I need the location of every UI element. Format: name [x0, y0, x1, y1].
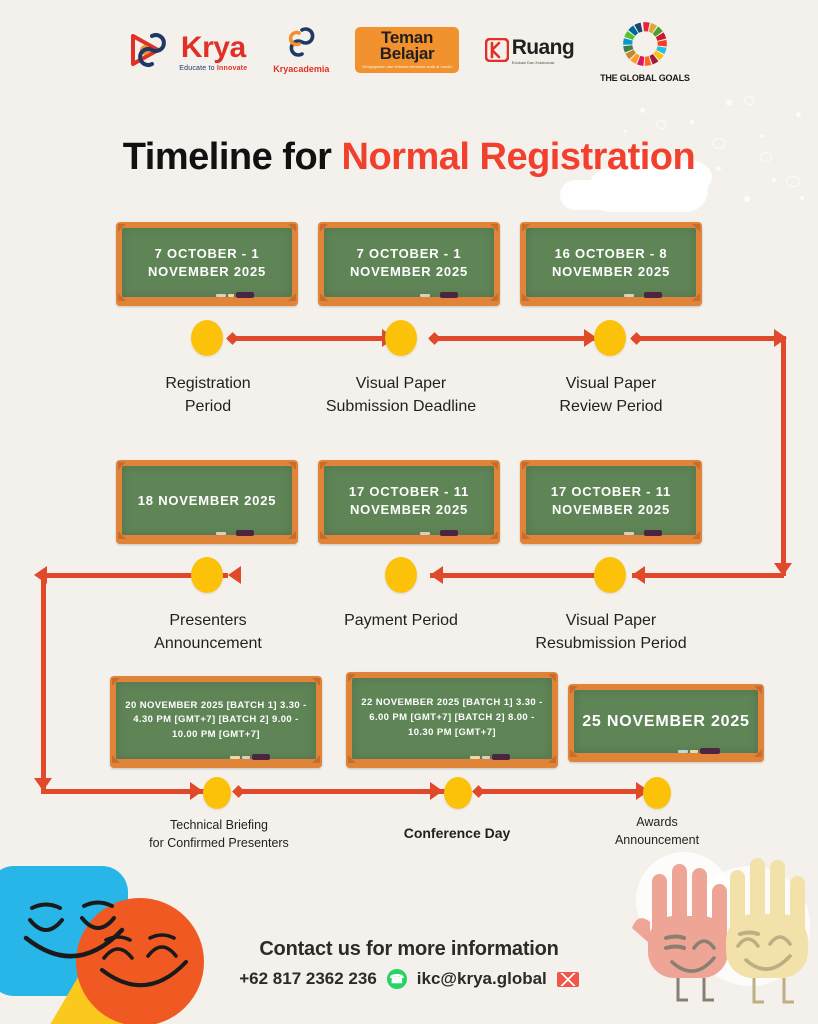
mascot-hand-yellow	[712, 850, 818, 1024]
teman-line2: Belajar	[380, 46, 435, 62]
global-goals-wordmark: THE GLOBAL GOALS	[600, 73, 690, 83]
timeline-node[interactable]	[385, 320, 417, 356]
chalk-icon	[230, 756, 240, 759]
krya-wordmark: Krya	[181, 33, 246, 63]
eraser-icon	[252, 754, 270, 760]
timeline-board[interactable]: 16 OCTOBER - 8 NOVEMBER 2025	[520, 222, 702, 306]
chalk-icon	[624, 294, 634, 297]
page-title-plain: Timeline for	[123, 136, 342, 178]
cloud-shape	[560, 180, 620, 210]
contact-row: +62 817 2362 236 ☎ ikc@krya.global	[0, 969, 818, 989]
krya-tagline: Educate to Innovate	[179, 65, 247, 72]
teman-belajar-logo: Teman Belajar Mengajarkan dan terbiasa b…	[355, 27, 458, 74]
chalk-icon	[470, 756, 480, 759]
board-face: 22 NOVEMBER 2025 [BATCH 1] 3.30 - 6.00 P…	[352, 678, 552, 759]
ruang-logo: Ruang Edukasi Dan Kolaborasi	[485, 36, 574, 65]
board-date-text: 18 NOVEMBER 2025	[132, 492, 283, 510]
decor-ring	[744, 96, 755, 105]
arrow-right-icon	[774, 329, 787, 347]
connector-dot	[630, 332, 643, 345]
decor-dot	[640, 108, 645, 113]
decor-ring	[656, 120, 667, 129]
decor-dot	[796, 112, 801, 117]
kryacademia-logo: Kryacademia	[273, 27, 329, 74]
step-label: Conference Day	[376, 823, 538, 843]
infographic-canvas: Krya Educate to Innovate Kryacademia Tem…	[0, 0, 818, 1024]
chalk-icon	[482, 756, 490, 759]
timeline-node[interactable]	[191, 557, 223, 593]
timeline-node[interactable]	[643, 777, 671, 809]
arrow-right-icon	[190, 782, 203, 800]
krya-mark-icon	[128, 28, 174, 72]
phone-number[interactable]: +62 817 2362 236	[239, 969, 377, 989]
connector-dot	[428, 332, 441, 345]
connector-line	[478, 789, 662, 794]
kryacademia-mark-icon	[286, 27, 316, 61]
step-label: Visual Paper Resubmission Period	[508, 609, 714, 655]
board-face: 17 OCTOBER - 11 NOVEMBER 2025	[526, 466, 696, 535]
connector-line	[228, 336, 404, 341]
board-date-text: 25 NOVEMBER 2025	[576, 711, 756, 733]
krya-logo: Krya Educate to Innovate	[128, 28, 247, 72]
connector-line	[632, 336, 784, 341]
ruang-mark-icon	[485, 38, 509, 62]
email-address[interactable]: ikc@krya.global	[417, 969, 547, 989]
decor-dot	[624, 130, 627, 133]
chalk-icon	[420, 294, 430, 297]
chalk-icon	[624, 532, 634, 535]
timeline-node[interactable]	[385, 557, 417, 593]
connector-dot	[472, 785, 485, 798]
eraser-icon	[440, 292, 458, 298]
decor-dot	[726, 100, 732, 106]
eraser-icon	[644, 292, 662, 298]
board-face: 18 NOVEMBER 2025	[122, 466, 292, 535]
kryacademia-wordmark: Kryacademia	[273, 64, 329, 74]
step-label: Technical Briefing for Confirmed Present…	[128, 816, 310, 852]
connector-line	[781, 336, 786, 576]
board-date-text: 17 OCTOBER - 11 NOVEMBER 2025	[324, 483, 494, 518]
chalk-icon	[228, 294, 234, 297]
arrow-left-icon	[34, 566, 47, 584]
mail-icon[interactable]	[557, 972, 579, 987]
decor-dot	[690, 120, 694, 124]
ruang-subtitle: Edukasi Dan Kolaborasi	[512, 60, 574, 65]
connector-line	[430, 573, 608, 578]
eraser-icon	[644, 530, 662, 536]
chalk-icon	[690, 750, 698, 753]
timeline-board[interactable]: 18 NOVEMBER 2025	[116, 460, 298, 544]
decor-dot	[744, 196, 750, 202]
board-face: 7 OCTOBER - 1 NOVEMBER 2025	[122, 228, 292, 297]
page-title: Timeline for Normal Registration	[0, 136, 818, 179]
timeline-board[interactable]: 25 NOVEMBER 2025	[568, 684, 764, 762]
board-face: 16 OCTOBER - 8 NOVEMBER 2025	[526, 228, 696, 297]
arrow-down-icon	[34, 778, 52, 791]
board-face: 25 NOVEMBER 2025	[574, 690, 758, 753]
board-date-text: 20 NOVEMBER 2025 [BATCH 1] 3.30 - 4.30 P…	[116, 699, 316, 742]
connector-line	[236, 789, 462, 794]
timeline-node[interactable]	[594, 320, 626, 356]
board-date-text: 22 NOVEMBER 2025 [BATCH 1] 3.30 - 6.00 P…	[352, 696, 552, 740]
board-date-text: 16 OCTOBER - 8 NOVEMBER 2025	[526, 245, 696, 280]
arrow-left-icon	[632, 566, 645, 584]
connector-line	[632, 573, 784, 578]
board-face: 7 OCTOBER - 1 NOVEMBER 2025	[324, 228, 494, 297]
board-date-text: 7 OCTOBER - 1 NOVEMBER 2025	[324, 245, 494, 280]
timeline-node[interactable]	[444, 777, 472, 809]
arrow-right-icon	[430, 782, 443, 800]
step-label: Registration Period	[110, 372, 306, 418]
connector-dot	[232, 785, 245, 798]
partner-logo-bar: Krya Educate to Innovate Kryacademia Tem…	[0, 8, 818, 92]
global-goals-logo: THE GLOBAL GOALS	[600, 17, 690, 83]
arrow-down-icon	[774, 563, 792, 576]
sdg-wheel-icon	[618, 17, 672, 71]
chalk-icon	[216, 294, 226, 297]
timeline-board[interactable]: 7 OCTOBER - 1 NOVEMBER 2025	[116, 222, 298, 306]
board-face: 17 OCTOBER - 11 NOVEMBER 2025	[324, 466, 494, 535]
connector-line	[41, 573, 46, 791]
chalk-icon	[216, 532, 226, 535]
step-label: Payment Period	[296, 609, 506, 632]
eraser-icon	[492, 754, 510, 760]
chalk-icon	[242, 756, 250, 759]
board-date-text: 7 OCTOBER - 1 NOVEMBER 2025	[122, 245, 292, 280]
eraser-icon	[440, 530, 458, 536]
timeline-board[interactable]: 7 OCTOBER - 1 NOVEMBER 2025	[318, 222, 500, 306]
decor-dot	[800, 196, 804, 200]
ruang-wordmark: Ruang	[512, 36, 574, 60]
chalk-icon	[678, 750, 688, 753]
step-label: Presenters Announcement	[110, 609, 306, 655]
step-label: Visual Paper Review Period	[508, 372, 714, 418]
timeline-board[interactable]: 22 NOVEMBER 2025 [BATCH 1] 3.30 - 6.00 P…	[346, 672, 558, 768]
timeline-board[interactable]: 17 OCTOBER - 11 NOVEMBER 2025	[318, 460, 500, 544]
step-label: Awards Announcement	[586, 813, 728, 849]
board-date-text: 17 OCTOBER - 11 NOVEMBER 2025	[526, 483, 696, 518]
teman-subtitle: Mengajarkan dan terbiasa bersama anak di…	[362, 64, 451, 69]
timeline-board[interactable]: 17 OCTOBER - 11 NOVEMBER 2025	[520, 460, 702, 544]
timeline-node[interactable]	[191, 320, 223, 356]
timeline-board[interactable]: 20 NOVEMBER 2025 [BATCH 1] 3.30 - 4.30 P…	[110, 676, 322, 768]
contact-heading: Contact us for more information	[0, 938, 818, 961]
eraser-icon	[700, 748, 720, 754]
chalk-icon	[420, 532, 430, 535]
eraser-icon	[236, 292, 254, 298]
arrow-left-icon	[228, 566, 241, 584]
step-label: Visual Paper Submission Deadline	[296, 372, 506, 418]
timeline-node[interactable]	[594, 557, 626, 593]
arrow-left-icon	[430, 566, 443, 584]
board-face: 20 NOVEMBER 2025 [BATCH 1] 3.30 - 4.30 P…	[116, 682, 316, 759]
connector-line	[430, 336, 608, 341]
page-title-accent: Normal Registration	[342, 136, 696, 178]
whatsapp-icon[interactable]: ☎	[387, 969, 407, 989]
connector-dot	[226, 332, 239, 345]
eraser-icon	[236, 530, 254, 536]
footer-contact: Contact us for more information +62 817 …	[0, 938, 818, 989]
timeline-node[interactable]	[203, 777, 231, 809]
